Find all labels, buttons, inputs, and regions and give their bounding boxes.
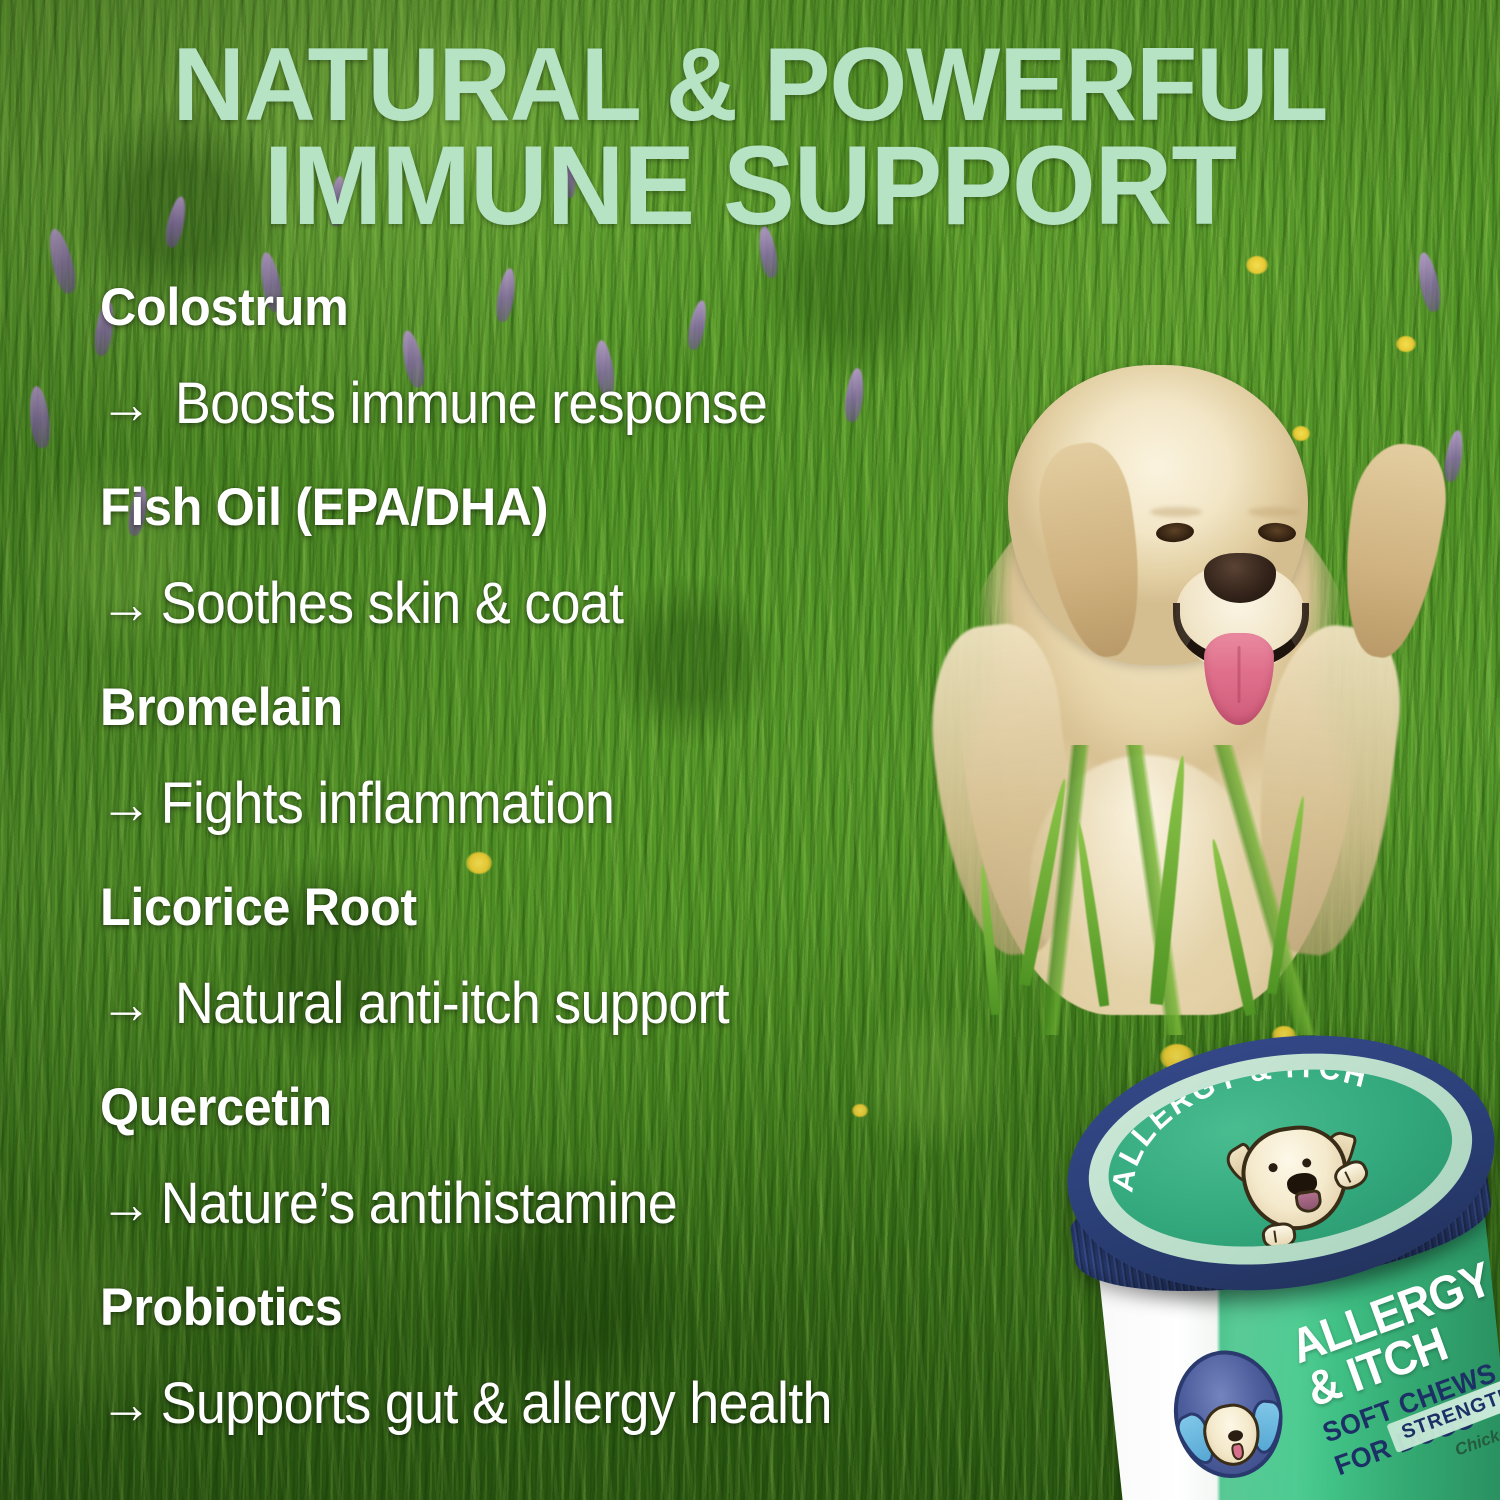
ingredient-benefit-text: Natural anti-itch support: [161, 971, 729, 1036]
arrow-icon: →: [100, 1172, 151, 1236]
ingredient-name: Colostrum: [100, 278, 1050, 338]
dog-brow-right: [1248, 507, 1300, 517]
headline-line-1: NATURAL & POWERFUL: [30, 38, 1470, 134]
ingredient-benefit-list: Colostrum → Boosts immune response Fish …: [100, 276, 1100, 1436]
ingredient-benefit: →Soothes skin & coat: [100, 572, 1030, 636]
ingredient-name: Bromelain: [100, 678, 1050, 738]
list-item: Colostrum → Boosts immune response: [100, 278, 1100, 436]
ingredient-benefit-text: Supports gut & allergy health: [161, 1371, 832, 1436]
arrow-icon: →: [100, 772, 151, 836]
badge-dog-tongue: [1230, 1442, 1245, 1461]
ingredient-benefit: →Supports gut & allergy health: [100, 1372, 1030, 1436]
list-item: Bromelain →Fights inflammation: [100, 678, 1100, 836]
ingredient-benefit: → Boosts immune response: [100, 372, 1030, 436]
list-item: Fish Oil (EPA/DHA) →Soothes skin & coat: [100, 478, 1100, 636]
list-item: Quercetin →Nature’s antihistamine: [100, 1078, 1100, 1236]
arrow-icon: →: [100, 572, 151, 636]
arrow-icon: →: [100, 972, 151, 1036]
ingredient-benefit: →Fights inflammation: [100, 772, 1030, 836]
ingredient-benefit-text: Fights inflammation: [161, 771, 615, 836]
ingredient-benefit-text: Boosts immune response: [161, 371, 767, 436]
jar-side-badge: [1164, 1342, 1293, 1487]
ingredient-name: Fish Oil (EPA/DHA): [100, 478, 1050, 538]
ingredient-benefit-text: Nature’s antihistamine: [161, 1171, 677, 1236]
lid-green-disc: ALLERGY & ITCH: [1097, 1049, 1464, 1267]
ingredient-name: Probiotics: [100, 1278, 1050, 1338]
badge-dog-nose: [1227, 1429, 1244, 1442]
arrow-icon: →: [100, 1372, 151, 1436]
ingredient-benefit: →Nature’s antihistamine: [100, 1172, 1030, 1236]
dog-brow-left: [1150, 507, 1202, 517]
arrow-icon: →: [100, 372, 151, 436]
dog-eye-right: [1257, 522, 1296, 544]
dog-eye-left: [1155, 522, 1194, 544]
ingredient-benefit-text: Soothes skin & coat: [161, 571, 624, 636]
list-item: Licorice Root → Natural anti-itch suppor…: [100, 878, 1100, 1036]
ingredient-benefit: → Natural anti-itch support: [100, 972, 1030, 1036]
headline-line-2: IMMUNE SUPPORT: [30, 134, 1470, 237]
product-jar: ALLERGY & ITCH SOFT CHEWS FOR DOGS STREN…: [1058, 1032, 1500, 1500]
ingredient-name: Licorice Root: [100, 878, 1050, 938]
ingredient-name: Quercetin: [100, 1078, 1050, 1138]
page-title: NATURAL & POWERFUL IMMUNE SUPPORT: [30, 38, 1470, 237]
product-feature-image: NATURAL & POWERFUL IMMUNE SUPPORT Colost…: [0, 0, 1500, 1500]
list-item: Probiotics →Supports gut & allergy healt…: [100, 1278, 1100, 1436]
